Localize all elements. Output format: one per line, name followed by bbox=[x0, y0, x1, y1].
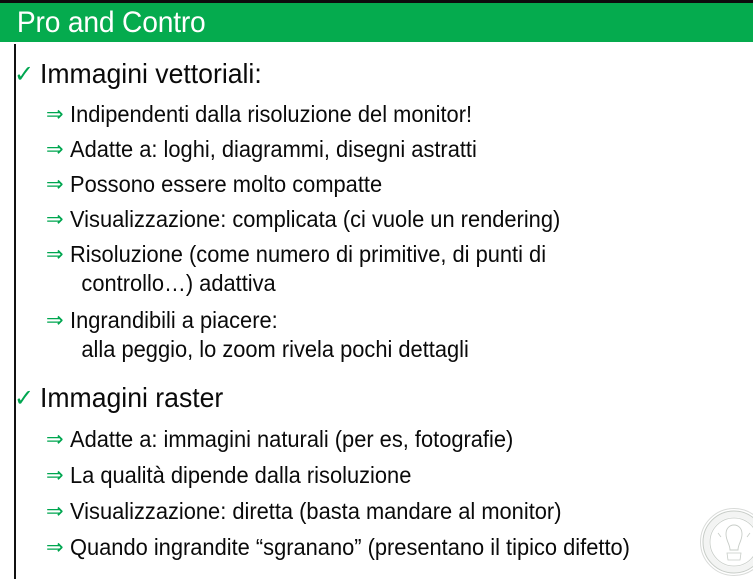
list-item-label: Adatte a: immagini naturali (per es, fot… bbox=[70, 425, 513, 454]
list-item-body: Visualizzazione: complicata (ci vuole un… bbox=[70, 205, 586, 234]
list-item-label: Possono essere molto compatte bbox=[70, 170, 382, 199]
list-item-body: Adatte a: immagini naturali (per es, fot… bbox=[70, 425, 537, 454]
list-item-body: Indipendenti dalla risoluzione del monit… bbox=[70, 100, 493, 129]
list-item: ⇒ Risoluzione (come numero di primitive,… bbox=[46, 240, 571, 298]
double-arrow-icon: ⇒ bbox=[46, 170, 70, 199]
double-arrow-icon: ⇒ bbox=[46, 533, 70, 562]
list-item-label: Ingrandibili a piacere: bbox=[70, 306, 469, 335]
list-item-label: Quando ingrandite “sgranano” (presentano… bbox=[70, 533, 630, 562]
list-item: ⇒ Visualizzazione: diretta (basta mandar… bbox=[46, 497, 587, 526]
list-item-label-continued: alla peggio, lo zoom rivela pochi dettag… bbox=[70, 335, 469, 364]
list-item-body: Risoluzione (come numero di primitive, d… bbox=[70, 240, 571, 298]
double-arrow-icon: ⇒ bbox=[46, 100, 70, 129]
list-item-label: La qualità dipende dalla risoluzione bbox=[70, 461, 411, 490]
list-item: ⇒ Possono essere molto compatte bbox=[46, 170, 399, 199]
list-item-body: Quando ingrandite “sgranano” (presentano… bbox=[70, 533, 659, 562]
list-item-body: Ingrandibili a piacere: alla peggio, lo … bbox=[70, 306, 490, 364]
list-item-label: Visualizzazione: complicata (ci vuole un… bbox=[70, 205, 560, 234]
list-item-label: Risoluzione (come numero di primitive, d… bbox=[70, 240, 546, 269]
list-item-label-continued: controllo…) adattiva bbox=[70, 269, 546, 298]
check-icon: ✓ bbox=[14, 382, 40, 414]
list-item-body: Visualizzazione: diretta (basta mandare … bbox=[70, 497, 587, 526]
list-item: ⇒ Quando ingrandite “sgranano” (presenta… bbox=[46, 533, 659, 562]
list-item-label: Adatte a: loghi, diagrammi, disegni astr… bbox=[70, 135, 477, 164]
slide: Pro and Contro ✓ Immagini vettoriali: ⇒ … bbox=[0, 0, 753, 579]
list-item: ⇒ Visualizzazione: complicata (ci vuole … bbox=[46, 205, 586, 234]
section-heading-label: Immagini raster bbox=[40, 382, 223, 414]
double-arrow-icon: ⇒ bbox=[46, 461, 70, 490]
double-arrow-icon: ⇒ bbox=[46, 240, 70, 269]
double-arrow-icon: ⇒ bbox=[46, 306, 70, 335]
list-item: ⇒ Ingrandibili a piacere: alla peggio, l… bbox=[46, 306, 490, 364]
list-item-body: Adatte a: loghi, diagrammi, disegni astr… bbox=[70, 135, 498, 164]
list-item-body: La qualità dipende dalla risoluzione bbox=[70, 461, 429, 490]
list-item-label: Visualizzazione: diretta (basta mandare … bbox=[70, 497, 561, 526]
list-item: ⇒ La qualità dipende dalla risoluzione bbox=[46, 461, 429, 490]
list-item: ⇒ Adatte a: loghi, diagrammi, disegni as… bbox=[46, 135, 498, 164]
section-heading-vettoriali: ✓ Immagini vettoriali: bbox=[14, 58, 273, 90]
slide-title-bar: Pro and Contro bbox=[0, 3, 753, 42]
check-icon: ✓ bbox=[14, 58, 40, 90]
section-heading-raster: ✓ Immagini raster bbox=[14, 382, 233, 414]
list-item-body: Possono essere molto compatte bbox=[70, 170, 399, 199]
section-heading-label: Immagini vettoriali: bbox=[40, 58, 262, 90]
list-item-label: Indipendenti dalla risoluzione del monit… bbox=[70, 100, 472, 129]
double-arrow-icon: ⇒ bbox=[46, 205, 70, 234]
double-arrow-icon: ⇒ bbox=[46, 497, 70, 526]
double-arrow-icon: ⇒ bbox=[46, 135, 70, 164]
list-item: ⇒ Adatte a: immagini naturali (per es, f… bbox=[46, 425, 537, 454]
page-title: Pro and Contro bbox=[0, 8, 206, 38]
double-arrow-icon: ⇒ bbox=[46, 425, 70, 454]
list-item: ⇒ Indipendenti dalla risoluzione del mon… bbox=[46, 100, 493, 129]
slide-body: ✓ Immagini vettoriali: ⇒ Indipendenti da… bbox=[0, 44, 753, 579]
